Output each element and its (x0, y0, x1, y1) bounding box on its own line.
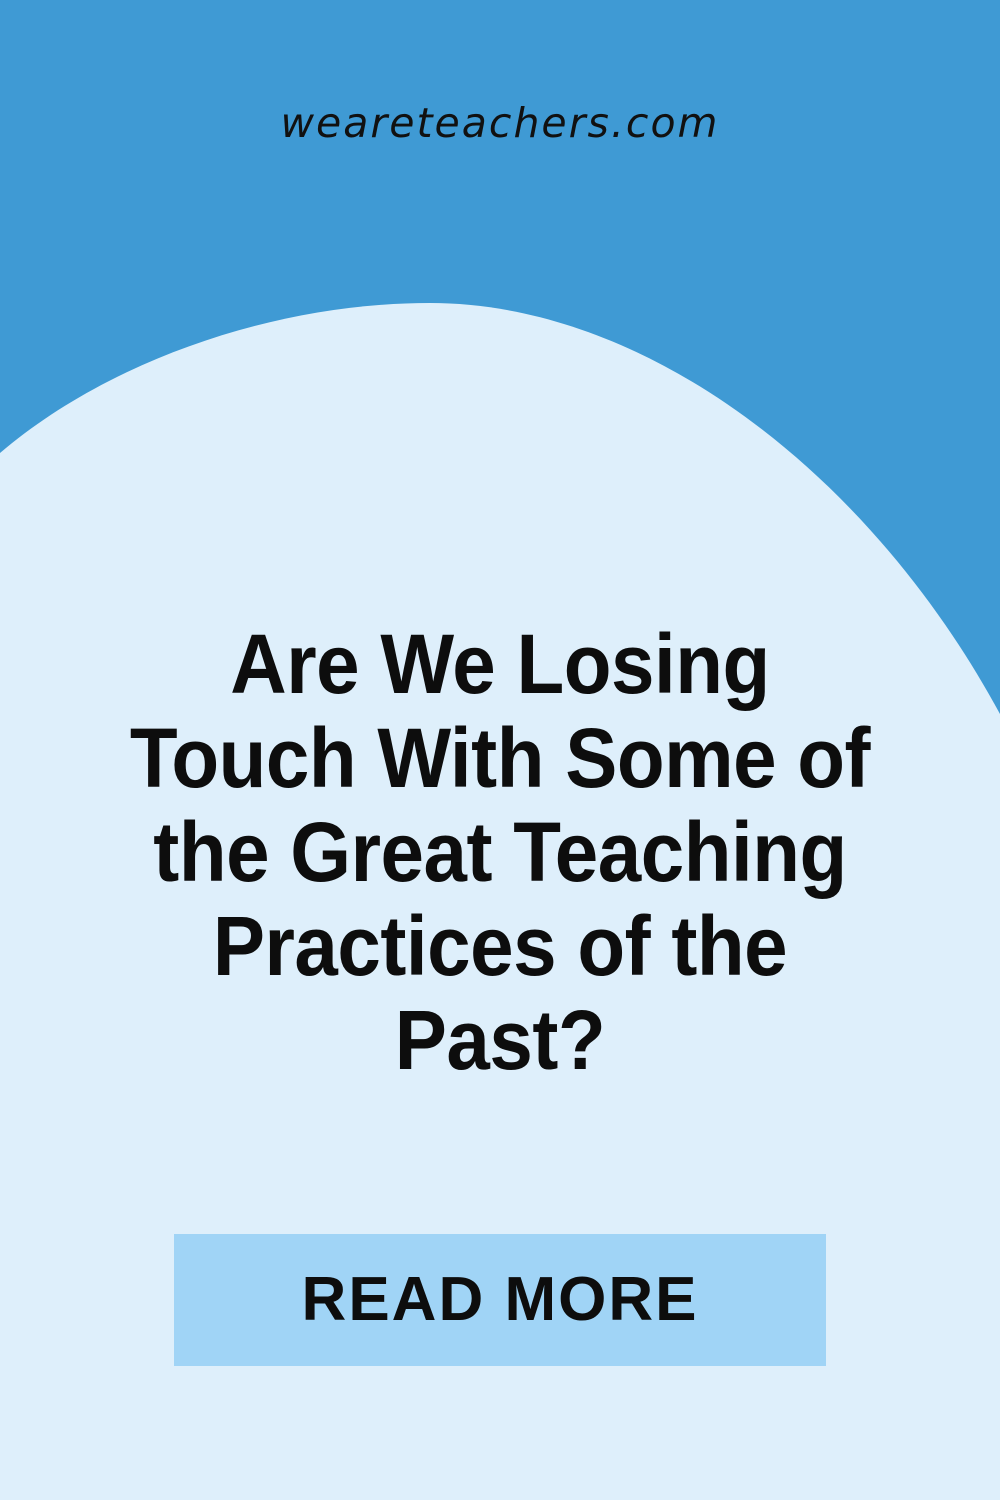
read-more-button[interactable]: READ MORE (174, 1234, 826, 1366)
site-logo-text: weareteachers.com (0, 103, 1000, 144)
pinterest-pin-card: weareteachers.com Are We Losing Touch Wi… (0, 0, 1000, 1500)
read-more-button-container[interactable]: READ MORE (174, 1234, 826, 1366)
page-title: Are We Losing Touch With Some of the Gre… (128, 617, 872, 1087)
